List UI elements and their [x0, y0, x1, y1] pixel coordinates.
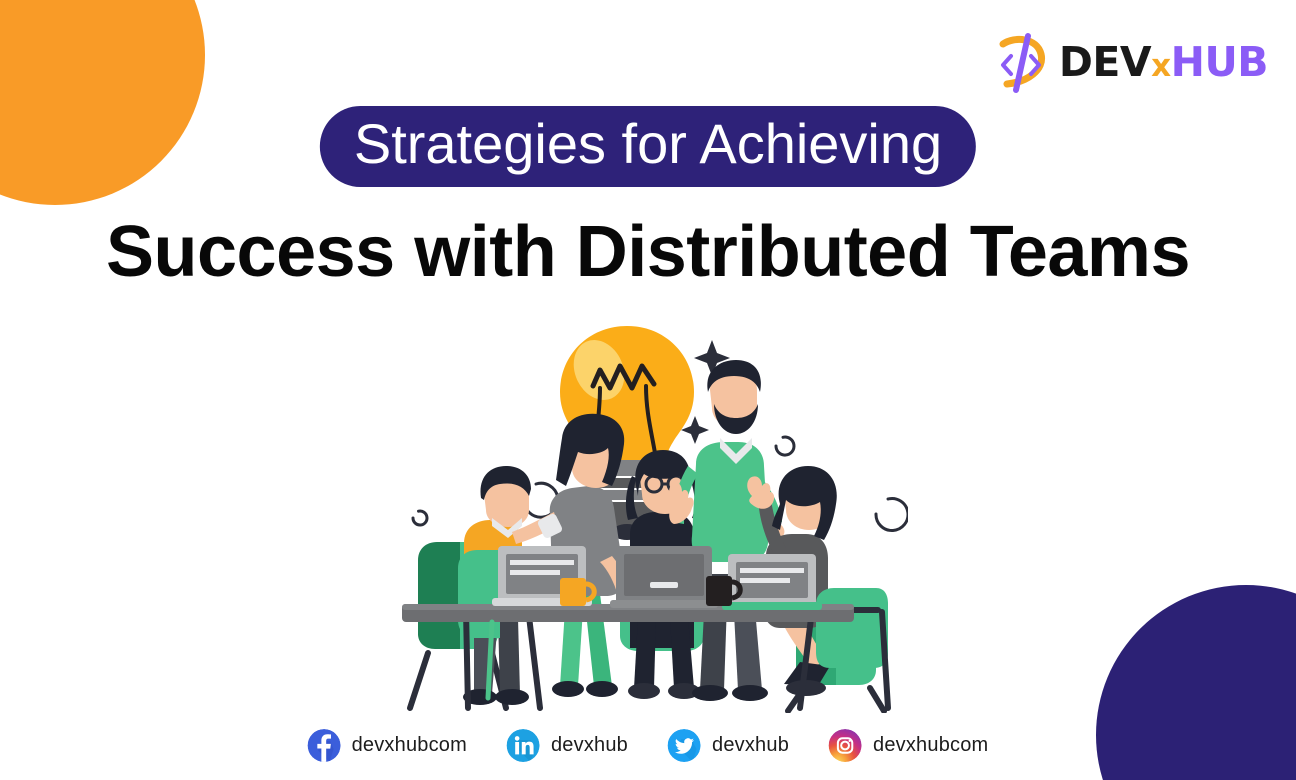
brand-logo-wordmark: DEVxHUB: [1059, 42, 1268, 83]
bottom-right-navy-circle-decoration: [1096, 585, 1296, 780]
social-handle-twitter: devxhub: [712, 734, 789, 757]
social-link-facebook[interactable]: devxhubcom: [308, 729, 467, 762]
team-collaboration-lightbulb-illustration: [388, 318, 908, 713]
social-handle-linkedin: devxhub: [551, 734, 628, 757]
instagram-icon: [829, 729, 862, 762]
social-link-instagram[interactable]: devxhubcom: [829, 729, 988, 762]
brand-logo[interactable]: DEVxHUB: [989, 26, 1268, 98]
logo-word-x: x: [1151, 48, 1171, 84]
page-title: Success with Distributed Teams: [58, 212, 1238, 293]
devxhub-code-swoosh-logo-icon: [989, 28, 1057, 96]
top-left-orange-circle-decoration: [0, 0, 205, 205]
twitter-icon: [668, 729, 701, 762]
social-handle-facebook: devxhubcom: [352, 734, 467, 757]
social-link-twitter[interactable]: devxhub: [668, 729, 789, 762]
logo-word-hub: HUB: [1171, 38, 1268, 86]
social-links-row: devxhubcom devxhub: [308, 729, 989, 762]
facebook-icon: [308, 729, 341, 762]
social-link-linkedin[interactable]: devxhub: [507, 729, 628, 762]
laptop-center: [610, 546, 718, 608]
linkedin-icon: [507, 729, 540, 762]
headline-banner-text: Strategies for Achieving: [354, 113, 942, 176]
logo-word-dev: DEV: [1059, 38, 1151, 86]
poster-canvas: DEVxHUB Strategies for Achieving Success…: [0, 0, 1296, 780]
headline-banner: Strategies for Achieving: [320, 106, 976, 187]
social-handle-instagram: devxhubcom: [873, 734, 988, 757]
